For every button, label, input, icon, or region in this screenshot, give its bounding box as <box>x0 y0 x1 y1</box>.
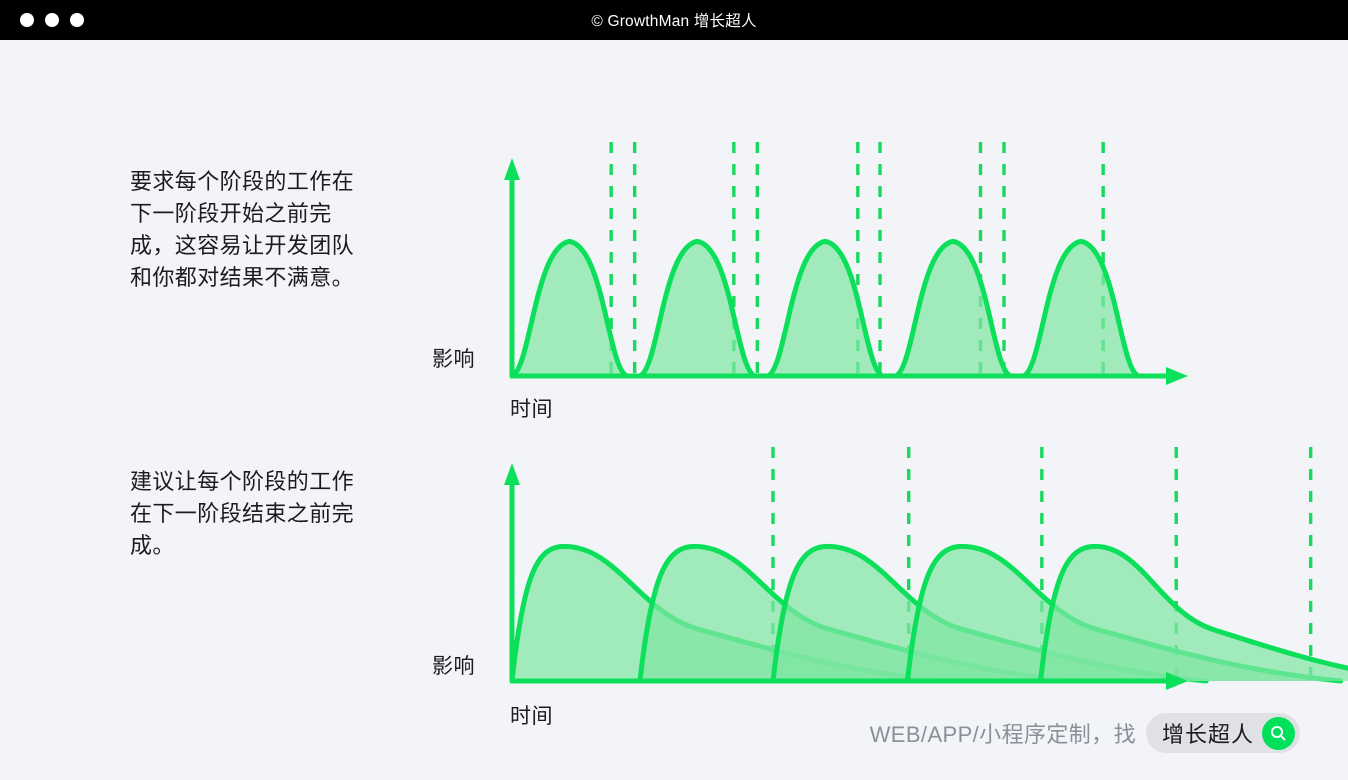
brand-name-label: 增长超人 <box>1162 717 1254 749</box>
y-axis-label: 影响 <box>432 650 475 680</box>
y-axis-label: 影响 <box>432 343 475 373</box>
y-axis-arrow-icon <box>504 463 520 485</box>
search-glyph-icon <box>1269 724 1288 743</box>
x-axis-label: 时间 <box>510 700 553 730</box>
footer-branding: WEB/APP/小程序定制，找 增长超人 <box>870 713 1300 753</box>
x-axis-arrow-icon <box>1166 367 1188 385</box>
caption-agile: 建议让每个阶段的工作在下一阶段结束之前完成。 <box>130 466 370 562</box>
phase-area-2 <box>640 241 755 376</box>
x-axis-label: 时间 <box>510 393 553 423</box>
chart-waterfall-svg <box>420 140 1210 400</box>
window-controls[interactable] <box>20 13 84 27</box>
chart-waterfall-phases: 影响 时间 <box>420 140 1210 400</box>
close-dot-icon[interactable] <box>20 13 34 27</box>
maximize-dot-icon[interactable] <box>70 13 84 27</box>
slide-canvas: 要求每个阶段的工作在下一阶段开始之前完成，这容易让开发团队和你都对结果不满意。 … <box>0 40 1348 780</box>
footer-tagline: WEB/APP/小程序定制，找 <box>870 717 1136 749</box>
chart-agile-svg <box>420 445 1210 705</box>
minimize-dot-icon[interactable] <box>45 13 59 27</box>
phase-area-3 <box>768 241 883 376</box>
window-title: © GrowthMan 增长超人 <box>0 9 1348 31</box>
chart-agile-phases: 影响 时间 <box>420 445 1210 705</box>
phase-curves-group <box>512 241 1138 376</box>
caption-waterfall: 要求每个阶段的工作在下一阶段开始之前完成，这容易让开发团队和你都对结果不满意。 <box>130 166 370 294</box>
phase-area-5 <box>1024 241 1139 376</box>
window-titlebar: © GrowthMan 增长超人 <box>0 0 1348 40</box>
phase-area-5 <box>1041 546 1348 681</box>
phase-curves-group <box>512 546 1348 681</box>
y-axis-arrow-icon <box>504 158 520 180</box>
brand-pill[interactable]: 增长超人 <box>1146 713 1300 753</box>
phase-area-4 <box>896 241 1011 376</box>
search-icon[interactable] <box>1262 717 1295 750</box>
